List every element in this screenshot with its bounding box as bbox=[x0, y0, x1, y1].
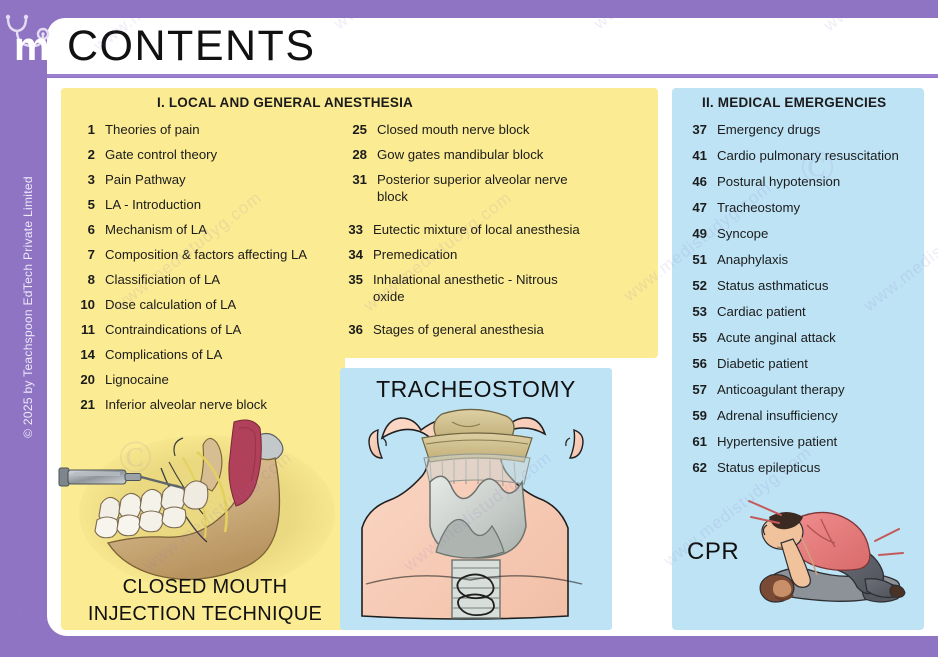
toc-item[interactable]: 49 Syncope bbox=[687, 226, 768, 243]
toc-item[interactable]: 10 Dose calculation of LA bbox=[75, 297, 236, 314]
toc-page-number: 2 bbox=[75, 147, 95, 164]
toc-title: LA - Introduction bbox=[105, 197, 201, 214]
toc-title: Anticoagulant therapy bbox=[717, 382, 845, 399]
header-divider bbox=[47, 74, 938, 77]
toc-title: Tracheostomy bbox=[717, 200, 800, 217]
toc-item[interactable]: 47 Tracheostomy bbox=[687, 200, 800, 217]
toc-item[interactable]: 11 Contraindications of LA bbox=[75, 322, 241, 339]
toc-title: Eutectic mixture of local anesthesia bbox=[373, 222, 580, 239]
toc-page-number: 47 bbox=[687, 200, 707, 217]
toc-page-number: 10 bbox=[75, 297, 95, 314]
toc-item[interactable]: 35 Inhalational anesthetic - Nitrous oxi… bbox=[341, 272, 591, 305]
toc-page-number: 56 bbox=[687, 356, 707, 373]
toc-title: Composition & factors affecting LA bbox=[105, 247, 307, 264]
toc-title: Mechanism of LA bbox=[105, 222, 207, 239]
toc-item[interactable]: 3 Pain Pathway bbox=[75, 172, 186, 189]
toc-page-number: 31 bbox=[345, 172, 367, 205]
toc-page-number: 14 bbox=[75, 347, 95, 364]
toc-item[interactable]: 25 Closed mouth nerve block bbox=[345, 122, 529, 139]
toc-item[interactable]: 57 Anticoagulant therapy bbox=[687, 382, 845, 399]
toc-page-number: 5 bbox=[75, 197, 95, 214]
section-one-heading: I. LOCAL AND GENERAL ANESTHESIA bbox=[157, 95, 413, 110]
tracheostomy-title: TRACHEOSTOMY bbox=[340, 376, 612, 403]
toc-page-number: 52 bbox=[687, 278, 707, 295]
toc-item[interactable]: 6 Mechanism of LA bbox=[75, 222, 207, 239]
toc-title: Contraindications of LA bbox=[105, 322, 241, 339]
toc-title: Theories of pain bbox=[105, 122, 200, 139]
toc-page-number: 57 bbox=[687, 382, 707, 399]
toc-item[interactable]: 36 Stages of general anesthesia bbox=[341, 322, 544, 339]
toc-item[interactable]: 56 Diabetic patient bbox=[687, 356, 808, 373]
toc-page-number: 34 bbox=[341, 247, 363, 264]
toc-title: Emergency drugs bbox=[717, 122, 820, 139]
toc-item[interactable]: 61 Hypertensive patient bbox=[687, 434, 837, 451]
toc-item[interactable]: 28 Gow gates mandibular block bbox=[345, 147, 543, 164]
toc-page-number: 11 bbox=[75, 322, 95, 339]
brand-logo: m bbox=[2, 10, 64, 72]
toc-page-number: 25 bbox=[345, 122, 367, 139]
toc-page-number: 55 bbox=[687, 330, 707, 347]
toc-title: Cardio pulmonary resuscitation bbox=[717, 148, 899, 165]
toc-title: Hypertensive patient bbox=[717, 434, 837, 451]
toc-title: Diabetic patient bbox=[717, 356, 808, 373]
copyright-notice: © 2025 by Teachspoon EdTech Private Limi… bbox=[21, 127, 35, 487]
tracheostomy-illustration bbox=[356, 408, 598, 620]
toc-item[interactable]: 62 Status epilepticus bbox=[687, 460, 820, 477]
toc-item[interactable]: 20 Lignocaine bbox=[75, 372, 169, 389]
cpr-illustration bbox=[747, 483, 922, 623]
toc-page-number: 6 bbox=[75, 222, 95, 239]
svg-text:m: m bbox=[14, 25, 50, 69]
toc-title: Cardiac patient bbox=[717, 304, 806, 321]
toc-item[interactable]: 53 Cardiac patient bbox=[687, 304, 806, 321]
toc-page-number: 59 bbox=[687, 408, 707, 425]
toc-item[interactable]: 5 LA - Introduction bbox=[75, 197, 201, 214]
toc-title: Lignocaine bbox=[105, 372, 169, 389]
toc-title: Postural hypotension bbox=[717, 174, 840, 191]
page-title: CONTENTS bbox=[67, 22, 316, 71]
toc-title: Dose calculation of LA bbox=[105, 297, 236, 314]
toc-item[interactable]: 33 Eutectic mixture of local anesthesia bbox=[341, 222, 580, 239]
toc-title: Posterior superior alveolar nerve block bbox=[377, 172, 595, 205]
toc-title: Status asthmaticus bbox=[717, 278, 828, 295]
toc-title: Status epilepticus bbox=[717, 460, 820, 477]
toc-page-number: 46 bbox=[687, 174, 707, 191]
toc-page-number: 1 bbox=[75, 122, 95, 139]
toc-title: Anaphylaxis bbox=[717, 252, 788, 269]
toc-title: Adrenal insufficiency bbox=[717, 408, 838, 425]
toc-item[interactable]: 1 Theories of pain bbox=[75, 122, 200, 139]
toc-item[interactable]: 34 Premedication bbox=[341, 247, 457, 264]
section-two-heading: II. MEDICAL EMERGENCIES bbox=[702, 95, 886, 110]
toc-item[interactable]: 59 Adrenal insufficiency bbox=[687, 408, 838, 425]
toc-item[interactable]: 46 Postural hypotension bbox=[687, 174, 840, 191]
toc-title: Gow gates mandibular block bbox=[377, 147, 543, 164]
toc-item[interactable]: 31 Posterior superior alveolar nerve blo… bbox=[345, 172, 595, 205]
toc-item[interactable]: 41 Cardio pulmonary resuscitation bbox=[687, 148, 899, 165]
closed-mouth-caption-line2: INJECTION TECHNIQUE bbox=[65, 601, 345, 628]
toc-item[interactable]: 51 Anaphylaxis bbox=[687, 252, 788, 269]
closed-mouth-caption-line1: CLOSED MOUTH bbox=[65, 574, 345, 601]
toc-title: Premedication bbox=[373, 247, 457, 264]
toc-page-number: 37 bbox=[687, 122, 707, 139]
toc-page-number: 20 bbox=[75, 372, 95, 389]
toc-page-number: 41 bbox=[687, 148, 707, 165]
contents-card: I. LOCAL AND GENERAL ANESTHESIA 1 Theori… bbox=[47, 78, 938, 636]
toc-title: Inhalational anesthetic - Nitrous oxide bbox=[373, 272, 591, 305]
toc-page-number: 36 bbox=[341, 322, 363, 339]
toc-page-number: 61 bbox=[687, 434, 707, 451]
toc-item[interactable]: 14 Complications of LA bbox=[75, 347, 222, 364]
closed-mouth-caption: CLOSED MOUTH INJECTION TECHNIQUE bbox=[65, 574, 345, 628]
toc-page-number: 7 bbox=[75, 247, 95, 264]
tracheostomy-figure-panel: TRACHEOSTOMY bbox=[340, 368, 612, 630]
toc-title: Gate control theory bbox=[105, 147, 217, 164]
toc-item[interactable]: 2 Gate control theory bbox=[75, 147, 217, 164]
toc-title: Acute anginal attack bbox=[717, 330, 836, 347]
toc-item[interactable]: 37 Emergency drugs bbox=[687, 122, 820, 139]
toc-page-number: 49 bbox=[687, 226, 707, 243]
toc-page-number: 8 bbox=[75, 272, 95, 289]
cpr-caption: CPR bbox=[687, 538, 739, 566]
page-header: CONTENTS bbox=[47, 18, 938, 75]
toc-page-number: 53 bbox=[687, 304, 707, 321]
toc-title: Stages of general anesthesia bbox=[373, 322, 544, 339]
toc-item[interactable]: 7 Composition & factors affecting LA bbox=[75, 247, 307, 264]
toc-title: Complications of LA bbox=[105, 347, 222, 364]
toc-item[interactable]: 55 Acute anginal attack bbox=[687, 330, 836, 347]
toc-page-number: 62 bbox=[687, 460, 707, 477]
toc-page-number: 35 bbox=[341, 272, 363, 305]
toc-page-number: 51 bbox=[687, 252, 707, 269]
toc-page-number: 33 bbox=[341, 222, 363, 239]
closed-mouth-figure bbox=[57, 408, 347, 593]
toc-item[interactable]: 8 Classificiation of LA bbox=[75, 272, 220, 289]
toc-title: Classificiation of LA bbox=[105, 272, 220, 289]
toc-title: Pain Pathway bbox=[105, 172, 186, 189]
toc-page-number: 28 bbox=[345, 147, 367, 164]
toc-page-number: 3 bbox=[75, 172, 95, 189]
toc-title: Closed mouth nerve block bbox=[377, 122, 529, 139]
toc-title: Syncope bbox=[717, 226, 768, 243]
toc-item[interactable]: 52 Status asthmaticus bbox=[687, 278, 828, 295]
